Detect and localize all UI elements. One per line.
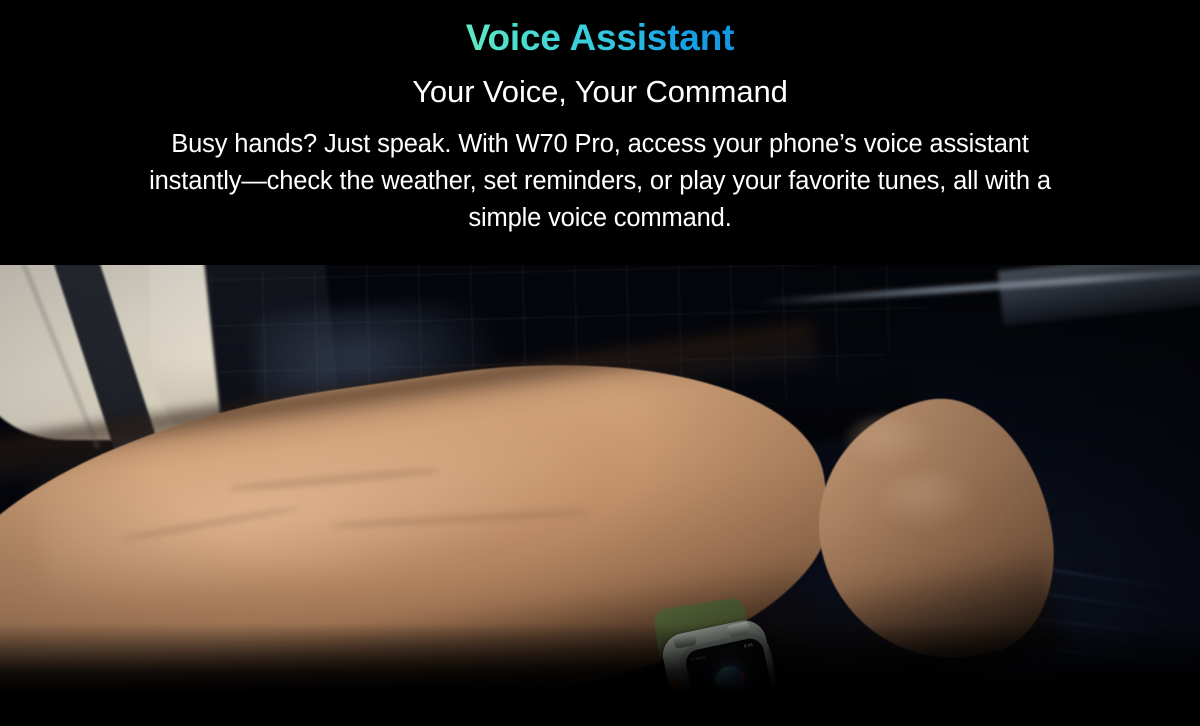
- knuckle-highlight: [880, 471, 980, 529]
- promo-banner: Voice Assistant Your Voice, Your Command…: [0, 0, 1200, 726]
- page-subtitle: Your Voice, Your Command: [412, 74, 788, 110]
- bottom-black-bar: [0, 693, 1200, 726]
- lifestyle-photo: ▴ ▴ ▴ ▴ BACK OPTION MAP NAV: [0, 265, 1200, 693]
- watch-clock: 9:41: [743, 642, 753, 649]
- voice-assistant-orb-icon: [712, 664, 747, 693]
- watch-crown-button[interactable]: [670, 679, 683, 693]
- knuckle-highlight: [845, 415, 935, 467]
- page-title: Voice Assistant: [466, 18, 734, 59]
- description-paragraph: Busy hands? Just speak. With W70 Pro, ac…: [130, 126, 1070, 237]
- watch-status-left: AI Voice: [691, 655, 706, 662]
- marketing-text-block: Voice Assistant Your Voice, Your Command…: [0, 0, 1200, 265]
